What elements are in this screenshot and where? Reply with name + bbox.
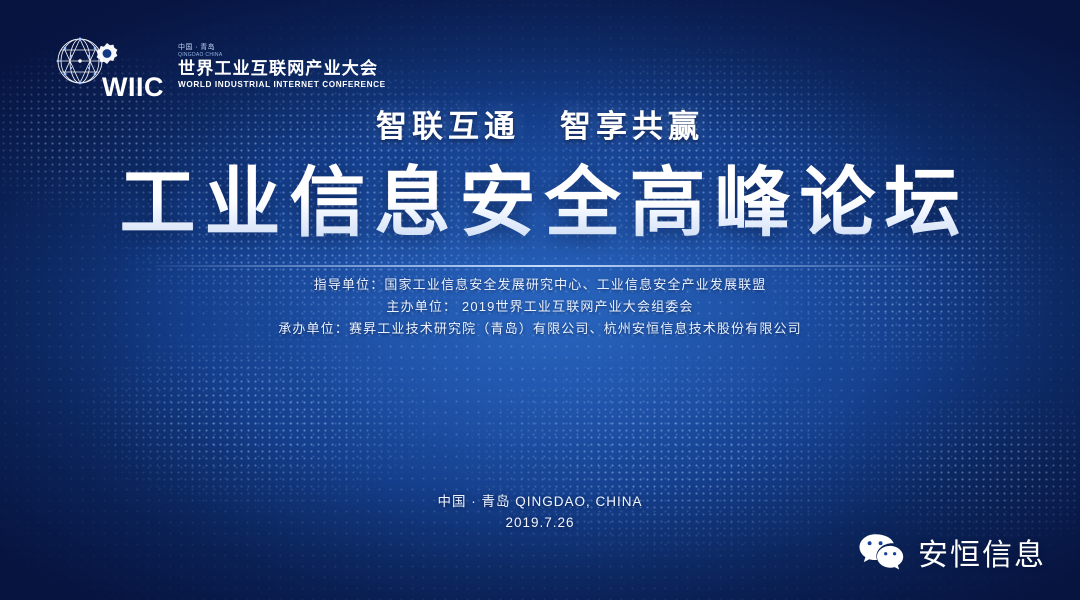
page-title: 工业信息安全高峰论坛 <box>0 161 1080 246</box>
event-place: 中国 · 青岛 QINGDAO, CHINA <box>0 491 1080 512</box>
watermark-label: 安恒信息 <box>918 530 1046 574</box>
wechat-icon <box>857 531 905 573</box>
slogan-part-left: 智联互通 <box>376 109 520 144</box>
organizer-credits: 指导单位：国家工业信息安全发展研究中心、工业信息安全产业发展联盟 主办单位： 2… <box>0 274 1080 340</box>
organizer-line-host: 主办单位： 2019世界工业互联网产业大会组委会 <box>0 296 1080 318</box>
conference-banner: WIIC 中国 · 青岛 QINGDAO CHINA 世界工业互联网产业大会 W… <box>0 0 1080 600</box>
logo-text-block: 中国 · 青岛 QINGDAO CHINA 世界工业互联网产业大会 WORLD … <box>178 41 386 90</box>
wiic-logo: WIIC 中国 · 青岛 QINGDAO CHINA 世界工业互联网产业大会 W… <box>52 34 386 96</box>
event-slogan: 智联互通智享共赢 <box>0 108 1080 145</box>
organizer-line-undertaker: 承办单位：赛昇工业技术研究院（青岛）有限公司、杭州安恒信息技术股份有限公司 <box>0 318 1080 340</box>
gear-icon <box>96 42 118 68</box>
hero-block: 智联互通智享共赢 工业信息安全高峰论坛 <box>0 108 1080 246</box>
divider <box>155 265 925 267</box>
globe-network-icon: WIIC <box>52 34 114 96</box>
logo-supline-cn: 中国 · 青岛 <box>178 43 386 52</box>
wechat-watermark: 安恒信息 <box>857 530 1046 574</box>
logo-name-cn: 世界工业互联网产业大会 <box>178 60 386 79</box>
logo-name-en: WORLD INDUSTRIAL INTERNET CONFERENCE <box>178 80 386 89</box>
logo-wordmark: WIIC <box>102 74 164 101</box>
event-location-date: 中国 · 青岛 QINGDAO, CHINA 2019.7.26 <box>0 491 1080 533</box>
logo-supline-en: QINGDAO CHINA <box>178 52 386 59</box>
organizer-line-guidance: 指导单位：国家工业信息安全发展研究中心、工业信息安全产业发展联盟 <box>0 274 1080 296</box>
slogan-part-right: 智享共赢 <box>560 109 704 144</box>
